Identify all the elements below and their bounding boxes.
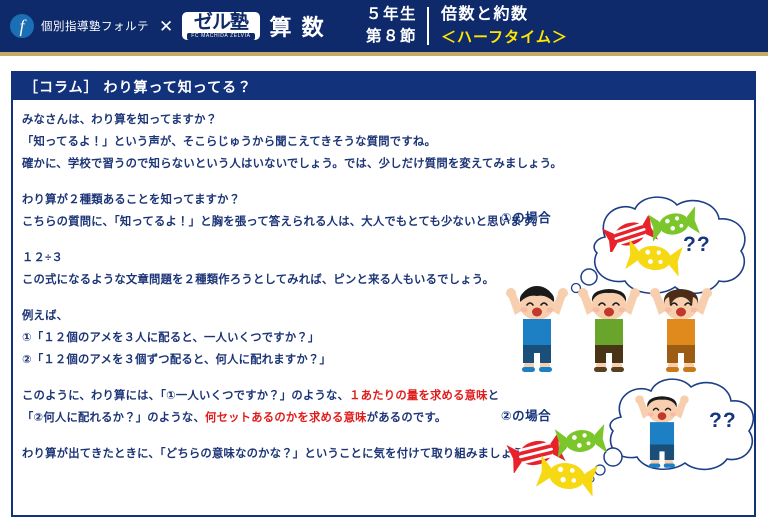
kid-blue-figure: [501, 281, 573, 373]
case-1-label: ①の場合: [501, 207, 551, 226]
paragraph-spacer: [22, 233, 504, 247]
paragraph-spacer: [22, 291, 504, 305]
grade-label: ５年生: [366, 4, 417, 26]
candy-yellow-icon: [535, 455, 599, 497]
candy-yellow-icon: [624, 239, 684, 277]
unit-block: 倍数と約数 ＜ハーフタイム＞: [441, 4, 568, 48]
column-body-text: みなさんは、わり算を知ってますか？ 「知ってるよ！」という声が、そこらじゅうから…: [22, 109, 504, 465]
kid-green-figure: [573, 281, 645, 373]
subject-title: 算 数: [270, 10, 326, 42]
kid-orange-figure: [645, 281, 717, 373]
page-header: 個別指導塾フォルテ ✕ ゼル塾 FC MACHIDA ZELVIA 算 数 ５年…: [0, 0, 768, 52]
paragraph-line: わり算が２種類あることを知ってますか？: [22, 189, 504, 211]
summary-text-post: があるのです。: [367, 412, 447, 424]
summary-line-2: 「②何人に配れるか？」のような、何セットあるのかを求める意味があるのです。: [22, 407, 504, 429]
grade-section-block: ５年生 第８節: [366, 4, 417, 48]
brand-block: 個別指導塾フォルテ ✕ ゼル塾 FC MACHIDA ZELVIA 算 数: [0, 0, 326, 52]
case-2-question-marks: ??: [709, 409, 737, 433]
example-line-1: ①「１２個のアメを３人に配ると、一人いくつですか？」: [22, 327, 504, 349]
header-divider: [427, 7, 429, 45]
paragraph-spacer: [22, 429, 504, 443]
example-line-2: ②「１２個のアメを３個ずつ配ると、何人に配れますか？」: [22, 349, 504, 371]
header-unit-info: ５年生 第８節 倍数と約数 ＜ハーフタイム＞: [366, 3, 568, 49]
brand-name: 個別指導塾フォルテ: [41, 18, 149, 34]
section-label: 第８節: [366, 26, 417, 48]
equation-line: １２÷３: [22, 247, 504, 269]
paragraph-line: 「知ってるよ！」という声が、そこらじゅうから聞こえてきそうな質問ですね。: [22, 131, 504, 153]
summary-line-1: このように、わり算には、「①一人いくつですか？」のような、１あたりの量を求める意…: [22, 385, 504, 407]
zelvia-logo-main: ゼル塾: [194, 13, 248, 32]
kid-blue-figure: [631, 389, 693, 469]
unit-subtitle: ＜ハーフタイム＞: [441, 27, 568, 48]
summary-text-pre: このように、わり算には、「①一人いくつですか？」のような、: [22, 390, 349, 402]
paragraph-line: こちらの質問に、「知ってるよ！」と胸を張って答えられる人は、大人でもとても少ない…: [22, 211, 504, 233]
illustration-case-1: ①の場合: [497, 197, 755, 373]
candy-green-icon: [553, 423, 609, 459]
unit-name: 倍数と約数: [441, 4, 568, 27]
highlight-meaning-2: 何セットあるのかを求める意味: [205, 412, 367, 424]
case-2-label: ②の場合: [501, 405, 551, 424]
paragraph-line: この式になるような文章問題を２種類作ろうとしてみれば、ピンと来る人もいるでしょう…: [22, 269, 504, 291]
panel-title: ［コラム］ わり算って知ってる？: [13, 73, 754, 100]
illustration-case-2: ②の場合 ??: [497, 375, 755, 515]
gold-rule-divider: [0, 52, 768, 56]
column-panel: ［コラム］ わり算って知ってる？ みなさんは、わり算を知ってますか？ 「知ってる…: [11, 71, 756, 517]
closing-line: わり算が出てきたときに、「どちらの意味なのかな？」ということに気を付けて取り組み…: [22, 443, 504, 465]
cross-icon: ✕: [159, 18, 173, 35]
zelvia-logo: ゼル塾 FC MACHIDA ZELVIA: [182, 12, 259, 40]
highlight-meaning-1: １あたりの量を求める意味: [349, 390, 488, 402]
paragraph-spacer: [22, 175, 504, 189]
paragraph-spacer: [22, 371, 504, 385]
zelvia-logo-sub: FC MACHIDA ZELVIA: [187, 33, 254, 40]
case-1-question-marks: ??: [683, 233, 711, 257]
paragraph-line: 確かに、学校で習うので知らないという人はいないでしょう。では、少しだけ質問を変え…: [22, 153, 504, 175]
summary-text-pre: 「②何人に配れるか？」のような、: [22, 412, 205, 424]
paragraph-line: 例えば、: [22, 305, 504, 327]
forte-logo-icon: [10, 14, 34, 38]
paragraph-line: みなさんは、わり算を知ってますか？: [22, 109, 504, 131]
